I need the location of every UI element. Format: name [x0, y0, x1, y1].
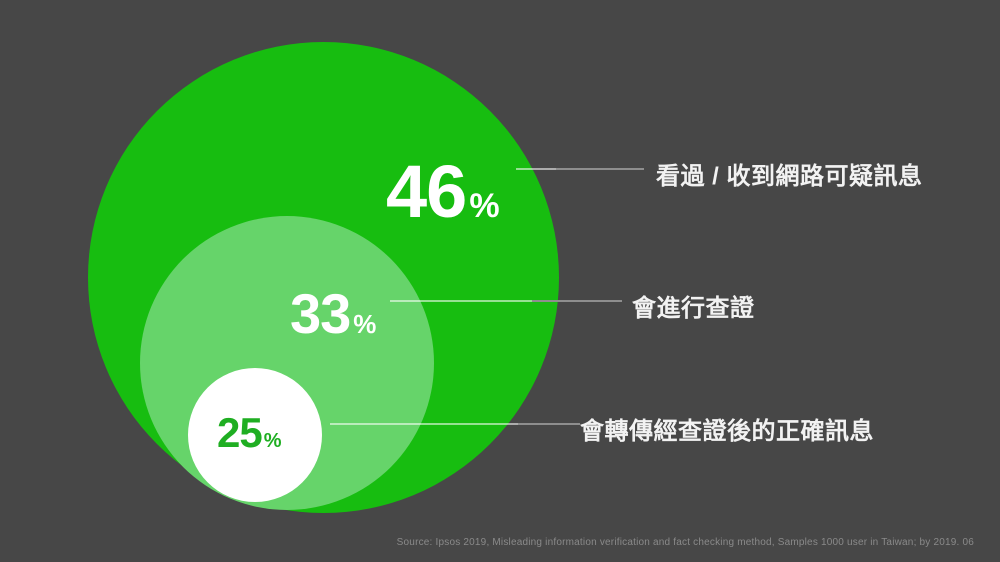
value-33-unit: % — [353, 311, 375, 337]
value-25-unit: % — [264, 431, 281, 451]
value-25-number: 25 — [217, 412, 262, 454]
value-33-percent: 33 % — [290, 286, 375, 342]
leader-line-33-inner — [390, 300, 536, 302]
value-46-number: 46 — [386, 155, 466, 229]
label-25-percent: 會轉傳經查證後的正確訊息 — [580, 411, 874, 446]
leader-line-46-outer — [556, 168, 644, 170]
value-46-percent: 46 % — [386, 155, 499, 229]
value-46-unit: % — [469, 189, 498, 223]
label-33-percent: 會進行查證 — [632, 288, 755, 323]
value-25-percent: 25 % — [217, 412, 281, 454]
source-note: Source: Ipsos 2019, Misleading informati… — [0, 537, 974, 548]
label-46-percent: 看過 / 收到網路可疑訊息 — [656, 156, 923, 191]
value-33-number: 33 — [290, 286, 350, 342]
infographic-slide: 46 % 33 % 25 % 看過 / 收到網路可疑訊息 會進行查證 會轉傳經查… — [0, 0, 1000, 562]
leader-line-25-outer — [518, 423, 580, 425]
leader-line-46-inner — [516, 168, 560, 170]
leader-line-25-inner — [330, 423, 522, 425]
leader-line-33-outer — [532, 300, 622, 302]
